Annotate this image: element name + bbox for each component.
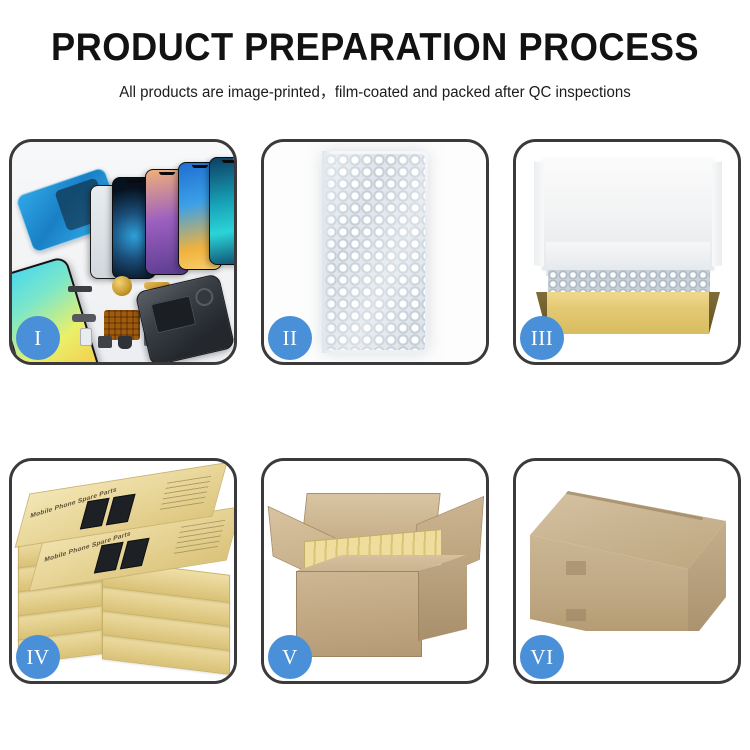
phone-lineup bbox=[90, 157, 234, 279]
kraft-box-base bbox=[536, 292, 720, 334]
carton-side-face bbox=[418, 557, 467, 641]
step-badge-1: I bbox=[16, 316, 60, 360]
page-header: PRODUCT PREPARATION PROCESS All products… bbox=[0, 0, 750, 102]
camera-module-part bbox=[98, 336, 112, 348]
page-subtitle: All products are image-printed，film-coat… bbox=[11, 80, 739, 102]
step-card-5: V bbox=[261, 458, 489, 684]
phone-device-4 bbox=[209, 157, 234, 265]
sim-tray-part bbox=[80, 328, 92, 346]
vibration-motor-part bbox=[118, 336, 132, 349]
step-badge-5: V bbox=[268, 635, 312, 679]
step-badge-6: VI bbox=[520, 635, 564, 679]
speaker-part-icon bbox=[112, 276, 132, 296]
flex-cable-part-2 bbox=[72, 314, 96, 322]
step-card-6: VI bbox=[513, 458, 741, 684]
process-steps-grid: I II III bbox=[9, 139, 741, 684]
sealed-shipping-carton bbox=[530, 491, 726, 659]
bubble-wrap-texture bbox=[325, 154, 425, 350]
step-card-1: I bbox=[9, 139, 237, 365]
step-badge-4: IV bbox=[16, 635, 60, 679]
product-preparation-process-page: PRODUCT PREPARATION PROCESS All products… bbox=[0, 0, 750, 750]
battery-connector-part bbox=[68, 286, 92, 292]
step-card-3: III bbox=[513, 139, 741, 365]
bubble-wrap-edge bbox=[322, 151, 332, 353]
step-badge-3: III bbox=[520, 316, 564, 360]
step-card-4: Mobile Phone Spare Parts Mobile Phone Sp… bbox=[9, 458, 237, 684]
carton-front-face bbox=[296, 571, 422, 657]
step-badge-2: II bbox=[268, 316, 312, 360]
open-shipping-carton bbox=[280, 497, 470, 657]
bubble-wrap-package bbox=[322, 151, 428, 353]
step-card-2: II bbox=[261, 139, 489, 365]
page-title: PRODUCT PREPARATION PROCESS bbox=[26, 28, 724, 69]
